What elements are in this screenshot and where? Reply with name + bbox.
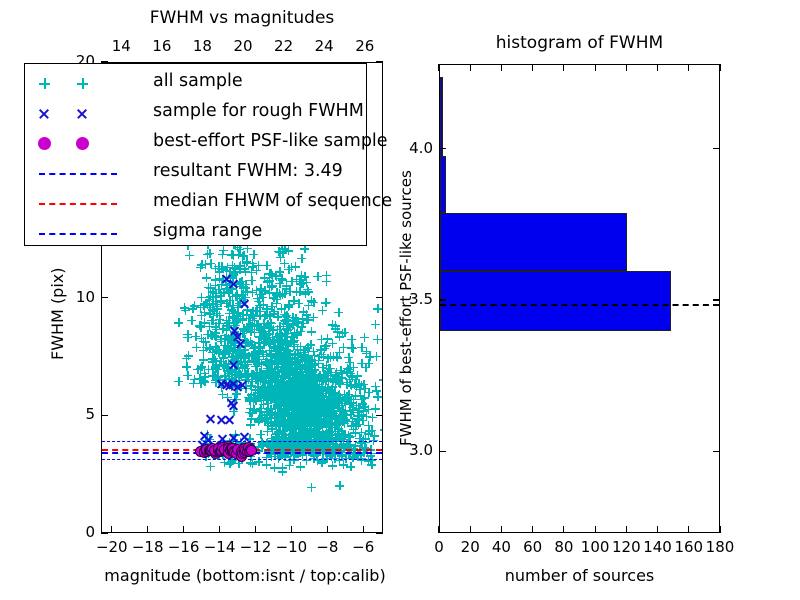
- scatter-point-all-sample: [255, 389, 264, 398]
- scatter-point-all-sample: [203, 300, 212, 309]
- scatter-point-all-sample: [189, 379, 198, 388]
- scatter-point-all-sample: [357, 381, 366, 390]
- scatter-point-rough-fwhm: [228, 400, 239, 411]
- scatter-point-all-sample: [274, 247, 283, 256]
- axis-tick: [595, 64, 596, 71]
- scatter-point-all-sample: [322, 277, 331, 286]
- scatter-point-all-sample: [339, 406, 348, 415]
- legend-symbol: [25, 98, 145, 128]
- scatter-point-all-sample: [310, 382, 319, 391]
- scatter-point-all-sample: [218, 350, 227, 359]
- scatter-point-all-sample: [294, 318, 303, 327]
- scatter-point-all-sample: [294, 378, 303, 387]
- scatter-point-all-sample: [185, 251, 194, 260]
- scatter-point-all-sample: [254, 358, 263, 367]
- legend-item[interactable]: resultant FWHM: 3.49: [25, 158, 366, 188]
- scatter-point-all-sample: [233, 308, 242, 317]
- scatter-point-all-sample: [307, 483, 316, 492]
- scatter-point-all-sample: [180, 303, 189, 312]
- scatter-point-all-sample: [270, 463, 279, 472]
- histogram-bar: [440, 213, 627, 270]
- scatter-point-all-sample: [182, 362, 191, 371]
- axis-tick: [438, 64, 439, 71]
- scatter-point-all-sample: [380, 425, 382, 434]
- scatter-point-all-sample: [345, 358, 354, 367]
- circle-icon: [76, 137, 89, 150]
- axis-tick: [563, 64, 564, 71]
- scatter-point-all-sample: [278, 463, 287, 472]
- scatter-point-all-sample: [273, 312, 282, 321]
- legend-symbol: [25, 218, 145, 248]
- scatter-point-all-sample: [174, 318, 183, 327]
- axis-tick: [376, 532, 383, 533]
- scatter-point-all-sample: [301, 420, 310, 429]
- scatter-point-all-sample: [260, 273, 269, 282]
- histogram-reference-line: [440, 304, 719, 306]
- scatter-point-all-sample: [365, 426, 374, 435]
- scatter-point-all-sample: [318, 306, 327, 315]
- right-plot-title: histogram of FWHM: [439, 33, 720, 53]
- scatter-point-all-sample: [183, 333, 192, 342]
- scatter-point-all-sample: [379, 375, 382, 384]
- axis-tick: [713, 148, 720, 149]
- scatter-point-rough-fwhm: [235, 338, 246, 349]
- scatter-point-all-sample: [338, 329, 347, 338]
- legend-label: sample for rough FWHM: [153, 101, 364, 121]
- legend-label: best-effort PSF-like sample: [153, 131, 388, 151]
- scatter-point-all-sample: [319, 352, 328, 361]
- axis-tick: [501, 526, 502, 533]
- axis-tick-label: −6: [337, 538, 389, 556]
- scatter-point-all-sample: [235, 350, 244, 359]
- dashed-line-icon: [39, 203, 117, 205]
- left-plot-ylabel: FWHM (pix): [48, 268, 67, 361]
- scatter-point-all-sample: [259, 322, 268, 331]
- axis-tick: [563, 526, 564, 533]
- axis-tick: [626, 526, 627, 533]
- axis-tick: [595, 526, 596, 533]
- scatter-point-all-sample: [266, 405, 275, 414]
- scatter-point-all-sample: [197, 362, 206, 371]
- circle-icon: [38, 137, 51, 150]
- axis-tick: [101, 532, 108, 533]
- axis-tick: [713, 299, 720, 300]
- scatter-point-all-sample: [304, 315, 313, 324]
- axis-tick: [439, 451, 446, 452]
- legend-label: sigma range: [153, 221, 262, 241]
- plus-icon: [39, 78, 50, 89]
- axis-tick: [439, 148, 446, 149]
- scatter-point-all-sample: [321, 298, 330, 307]
- left-plot-title: FWHM vs magnitudes: [101, 8, 383, 28]
- axis-tick: [626, 64, 627, 71]
- right-plot-ylabel: FWHM of best-effort PSF-like sources: [397, 170, 415, 446]
- dashed-line-icon: [39, 173, 117, 175]
- axis-tick: [532, 526, 533, 533]
- axis-tick-label: 3.5: [373, 290, 433, 308]
- legend-item[interactable]: median FHWM of sequence: [25, 188, 366, 218]
- legend-label: resultant FWHM: 3.49: [153, 161, 343, 181]
- scatter-point-all-sample: [174, 377, 183, 386]
- axis-tick: [219, 526, 220, 533]
- scatter-point-all-sample: [373, 335, 382, 344]
- scatter-point-all-sample: [278, 339, 287, 348]
- histogram-bar: [440, 77, 443, 95]
- legend-symbol: [25, 68, 145, 98]
- scatter-point-all-sample: [287, 263, 296, 272]
- legend-label: all sample: [153, 71, 243, 91]
- scatter-point-all-sample: [254, 415, 263, 424]
- scatter-point-rough-fwhm: [224, 414, 235, 425]
- legend-symbol: [25, 188, 145, 218]
- scatter-point-all-sample: [297, 254, 306, 263]
- histogram-bar: [440, 95, 443, 156]
- axis-tick: [363, 526, 364, 533]
- scatter-point-all-sample: [305, 391, 314, 400]
- axis-tick: [327, 526, 328, 533]
- axis-tick: [376, 415, 383, 416]
- cross-icon: [76, 108, 88, 120]
- right-plot-xlabel: number of sources: [439, 566, 720, 585]
- scatter-point-all-sample: [217, 296, 226, 305]
- axis-tick: [719, 526, 720, 533]
- axis-tick: [183, 526, 184, 533]
- scatter-point-all-sample: [203, 250, 212, 259]
- axis-tick: [719, 64, 720, 71]
- scatter-point-all-sample: [304, 287, 313, 296]
- scatter-point-all-sample: [293, 395, 302, 404]
- scatter-point-rough-fwhm: [228, 359, 239, 370]
- axis-tick: [438, 526, 439, 533]
- legend-box: all samplesample for rough FWHMbest-effo…: [24, 63, 367, 246]
- scatter-point-all-sample: [353, 414, 362, 423]
- axis-tick: [470, 526, 471, 533]
- scatter-point-all-sample: [249, 250, 258, 259]
- scatter-point-all-sample: [254, 261, 263, 270]
- axis-tick-label: 26: [339, 37, 391, 55]
- axis-tick: [470, 64, 471, 71]
- scatter-point-all-sample: [271, 368, 280, 377]
- histogram-bar: [440, 271, 671, 332]
- histogram-plot-area: [440, 65, 719, 532]
- scatter-point-all-sample: [271, 271, 280, 280]
- axis-tick-label: 10: [35, 288, 95, 306]
- scatter-point-all-sample: [208, 348, 217, 357]
- scatter-point-all-sample: [335, 481, 344, 490]
- axis-tick-label: 0: [35, 523, 95, 541]
- scatter-point-all-sample: [276, 381, 285, 390]
- scatter-point-all-sample: [202, 273, 211, 282]
- axis-tick-label: 5: [35, 405, 95, 423]
- figure-canvas: FWHM vs magnitudes magnitude (bottom:isn…: [0, 0, 800, 600]
- scatter-point-all-sample: [289, 338, 298, 347]
- scatter-point-all-sample: [322, 341, 331, 350]
- axis-tick-label: 3.0: [373, 441, 433, 459]
- scatter-point-all-sample: [214, 262, 223, 271]
- scatter-point-all-sample: [289, 296, 298, 305]
- scatter-point-all-sample: [347, 343, 356, 352]
- scatter-point-all-sample: [206, 462, 215, 471]
- scatter-point-all-sample: [338, 417, 347, 426]
- scatter-point-all-sample: [312, 418, 321, 427]
- axis-tick: [688, 64, 689, 71]
- scatter-point-all-sample: [361, 363, 370, 372]
- dash-dot-line-icon: [39, 233, 117, 235]
- scatter-point-rough-fwhm: [205, 413, 216, 424]
- left-plot-xlabel: magnitude (bottom:isnt / top:calib): [60, 566, 430, 585]
- scatter-point-all-sample: [320, 370, 329, 379]
- axis-tick: [255, 526, 256, 533]
- scatter-point-all-sample: [269, 293, 278, 302]
- scatter-point-all-sample: [328, 461, 337, 470]
- plus-icon: [77, 78, 88, 89]
- scatter-point-all-sample: [184, 351, 193, 360]
- axis-tick: [501, 64, 502, 71]
- scatter-point-all-sample: [282, 320, 291, 329]
- scatter-point-all-sample: [212, 325, 221, 334]
- cross-icon: [38, 108, 50, 120]
- axis-tick: [657, 64, 658, 71]
- legend-item[interactable]: sample for rough FWHM: [25, 98, 366, 128]
- axis-tick: [439, 299, 446, 300]
- axis-tick: [713, 451, 720, 452]
- legend-symbol: [25, 128, 145, 158]
- scatter-point-all-sample: [338, 396, 347, 405]
- axis-tick: [147, 526, 148, 533]
- histogram-bar: [440, 156, 446, 213]
- scatter-point-rough-fwhm: [228, 278, 239, 289]
- axis-tick: [376, 61, 383, 62]
- scatter-point-all-sample: [348, 453, 357, 462]
- axis-tick: [532, 64, 533, 71]
- scatter-point-rough-fwhm: [237, 379, 248, 390]
- scatter-point-all-sample: [196, 263, 205, 272]
- legend-item[interactable]: all sample: [25, 68, 366, 98]
- axis-tick: [657, 526, 658, 533]
- axis-tick: [101, 297, 108, 298]
- scatter-point-all-sample: [346, 462, 355, 471]
- scatter-point-all-sample: [301, 411, 310, 420]
- scatter-point-all-sample: [229, 251, 238, 260]
- scatter-point-all-sample: [270, 356, 279, 365]
- legend-item[interactable]: sigma range: [25, 218, 366, 248]
- scatter-point-all-sample: [252, 350, 261, 359]
- axis-tick: [291, 526, 292, 533]
- scatter-point-all-sample: [307, 327, 316, 336]
- scatter-point-all-sample: [308, 370, 317, 379]
- scatter-point-all-sample: [372, 386, 381, 395]
- axis-tick: [101, 415, 108, 416]
- axis-tick-label: 180: [694, 538, 746, 556]
- scatter-point-all-sample: [360, 333, 369, 342]
- legend-item[interactable]: best-effort PSF-like sample: [25, 128, 366, 158]
- scatter-point-all-sample: [326, 394, 335, 403]
- scatter-point-all-sample: [248, 459, 257, 468]
- scatter-point-all-sample: [362, 347, 371, 356]
- scatter-point-all-sample: [357, 395, 366, 404]
- scatter-point-all-sample: [197, 311, 206, 320]
- scatter-point-rough-fwhm: [239, 298, 250, 309]
- legend-symbol: [25, 158, 145, 188]
- scatter-point-all-sample: [228, 261, 237, 270]
- scatter-point-all-sample: [334, 308, 343, 317]
- scatter-point-all-sample: [187, 316, 196, 325]
- scatter-point-all-sample: [371, 320, 380, 329]
- scatter-point-psf-like: [246, 445, 257, 456]
- scatter-point-all-sample: [248, 370, 257, 379]
- legend-label: median FHWM of sequence: [153, 191, 392, 211]
- scatter-point-all-sample: [196, 321, 205, 330]
- scatter-point-all-sample: [309, 298, 318, 307]
- axis-tick: [111, 526, 112, 533]
- scatter-point-all-sample: [246, 319, 255, 328]
- scatter-point-all-sample: [268, 436, 277, 445]
- scatter-point-all-sample: [275, 421, 284, 430]
- scatter-point-all-sample: [192, 343, 201, 352]
- axis-tick: [688, 526, 689, 533]
- scatter-point-all-sample: [342, 367, 351, 376]
